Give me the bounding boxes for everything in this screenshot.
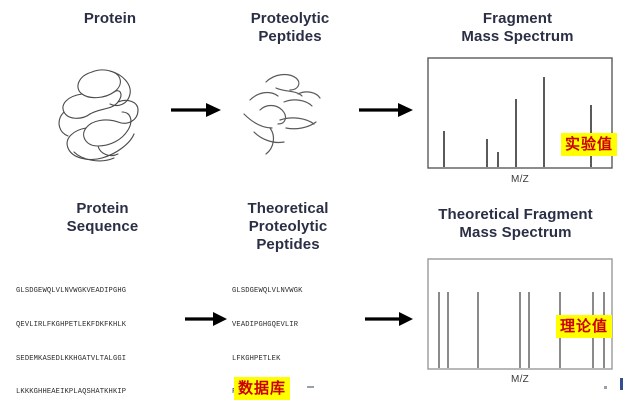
bottom-peptides-title: Theoretical Proteolytic Peptides	[218, 200, 358, 254]
top-spectrum-title-line1: Fragment	[415, 10, 620, 28]
theoretical-value-badge: 理论值	[556, 316, 612, 336]
sequence-line: QEVLIRLFKGHPETLEKFDKFKHLK	[16, 320, 181, 331]
experimental-value-badge: 实验值	[561, 134, 617, 154]
peptide-fragments-illustration	[240, 66, 340, 166]
bottom-spectrum-title: Theoretical Fragment Mass Spectrum	[408, 206, 623, 242]
scan-artifact-edge-mark	[620, 378, 623, 390]
bottom-sequence-title-line2: Sequence	[20, 218, 185, 236]
sequence-line: SEDEMKASEDLKKHGATVLTALGGI	[16, 354, 181, 365]
sequence-line: GLSDGEWQLVLNVWGKVEADIPGHG	[16, 286, 181, 297]
bottom-arrow-to-spectrum	[364, 309, 414, 329]
top-peptides-title-line2: Peptides	[215, 28, 365, 46]
top-peptides-title-line1: Proteolytic	[215, 10, 365, 28]
bottom-mz-axis-label: M/Z	[427, 374, 613, 385]
database-badge-text: 数据库	[234, 377, 290, 400]
bottom-arrow-digest	[184, 309, 228, 329]
peptide-line: VEADIPGHGQEVLIR	[232, 320, 357, 331]
peptide-line: LFKGHPETLEK	[232, 354, 357, 365]
top-arrow-to-spectrum	[358, 100, 414, 120]
bottom-spectrum-title-line2: Mass Spectrum	[408, 224, 623, 242]
bottom-sequence-title: Protein Sequence	[20, 200, 185, 236]
bottom-peptides-title-line1: Theoretical	[218, 200, 358, 218]
theoretical-value-badge-text: 理论值	[556, 315, 612, 338]
top-mz-axis-label: M/Z	[427, 174, 613, 185]
theoretical-spectrum-chart	[427, 258, 613, 370]
experimental-value-badge-text: 实验值	[561, 133, 617, 156]
top-peptides-title: Proteolytic Peptides	[215, 10, 365, 46]
protein-coil-illustration	[48, 58, 168, 173]
bottom-peptides-title-line3: Peptides	[218, 236, 358, 254]
top-spectrum-title: Fragment Mass Spectrum	[415, 10, 620, 46]
top-arrow-digest	[170, 100, 222, 120]
top-protein-title: Protein	[30, 10, 190, 28]
scan-artifact-dot	[604, 386, 607, 389]
bottom-spectrum-title-line1: Theoretical Fragment	[408, 206, 623, 224]
peptide-line: GLSDGEWQLVLNVWGK	[232, 286, 357, 297]
top-spectrum-title-line2: Mass Spectrum	[415, 28, 620, 46]
sequence-line: LKKKGHHEAEIKPLAQSHATKHKIP	[16, 387, 181, 398]
database-badge: 数据库	[234, 378, 290, 398]
figure-canvas: Protein Proteolytic Peptides	[0, 0, 629, 404]
bottom-sequence-title-line1: Protein	[20, 200, 185, 218]
protein-sequence-block: GLSDGEWQLVLNVWGKVEADIPGHG QEVLIRLFKGHPET…	[16, 264, 181, 404]
bottom-peptides-title-line2: Proteolytic	[218, 218, 358, 236]
scan-artifact-dash	[307, 386, 314, 388]
